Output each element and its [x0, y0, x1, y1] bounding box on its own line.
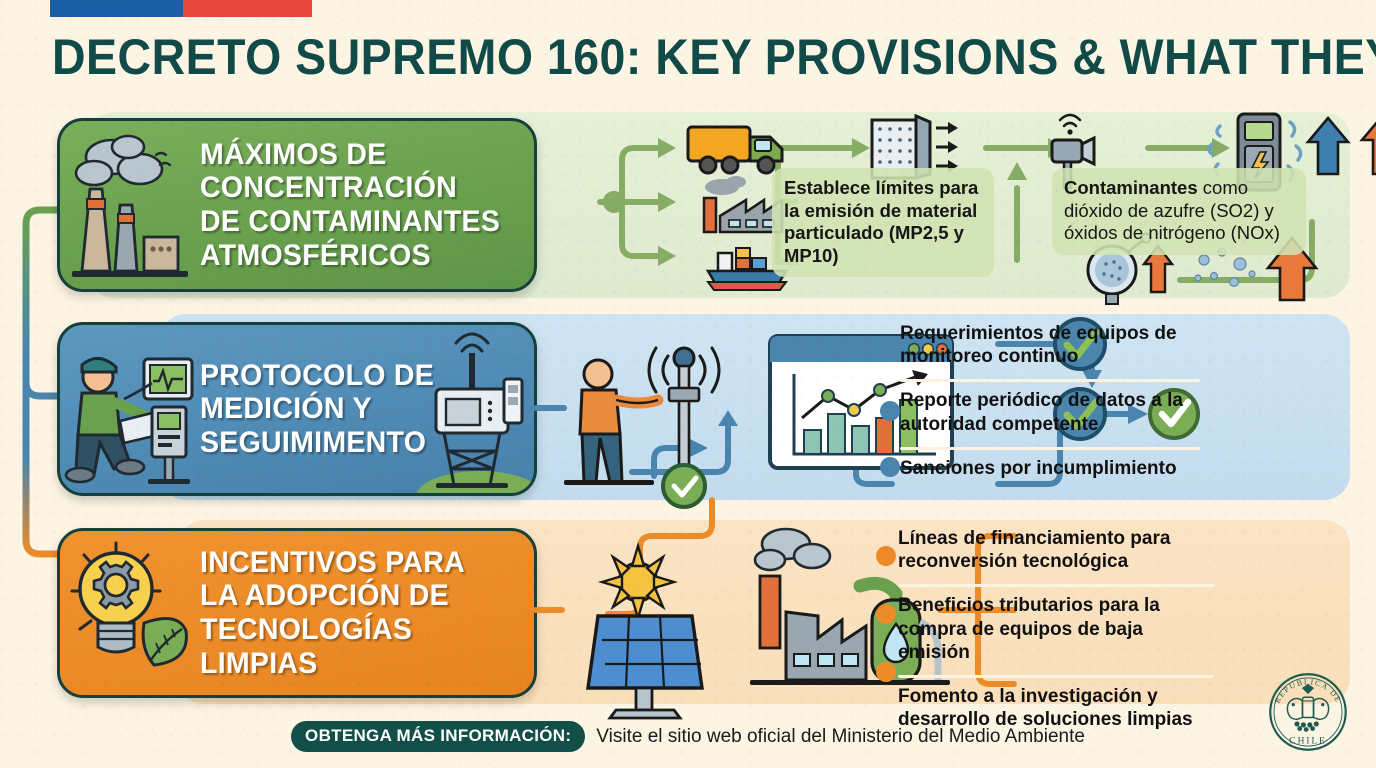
antenna-tower-icon: [410, 325, 530, 493]
bullet-dot-orange: [876, 662, 896, 682]
factory-icon: [704, 176, 782, 232]
callout-pollutants: Contaminantes como dióxido de azufre (SO…: [1052, 168, 1306, 255]
page-title: DECRETO SUPREMO 160: KEY PROVISIONS & WH…: [52, 32, 1252, 82]
lightbulb-gear-leaf-icon: [60, 531, 200, 695]
arrow-up-orange-icon: [1362, 114, 1376, 174]
card-emissions-title: MÁXIMOS DE CONCENTRACIÓN DE CONTAMINANTE…: [200, 138, 508, 272]
callout-particulate-limits: Establece límites para la emisión de mat…: [772, 168, 994, 277]
bullet-dot-orange: [876, 604, 896, 624]
bullet-item[interactable]: Sanciones por incumplimiento: [900, 457, 1200, 486]
card-incentives-title: INCENTIVOS PARA LA ADOPCIÓN DE TECNOLOGÍ…: [200, 546, 517, 680]
factory-smokestacks-icon: [60, 121, 200, 289]
flag-red-block: [183, 0, 312, 17]
flag-blue-block: [50, 0, 183, 17]
card-incentives[interactable]: INCENTIVOS PARA LA ADOPCIÓN DE TECNOLOGÍ…: [57, 528, 537, 698]
footer-text: Visite el sitio web oficial del Minister…: [596, 726, 1085, 748]
bullets-incentives: Líneas de financiamiento para reconversi…: [898, 527, 1214, 737]
bullet-dot-blue: [880, 401, 900, 421]
bullets-monitoring: Requerimientos de equipos de monitoreo c…: [900, 322, 1200, 486]
bullet-divider: [900, 447, 1200, 450]
field-technician-icon: [564, 348, 719, 507]
callout-particulate-limits-text: Establece límites para la emisión de mat…: [784, 177, 978, 266]
seal-bottom-text: CHILE: [1289, 735, 1327, 746]
card-monitoring[interactable]: PROTOCOLO DE MEDICIÓN Y SEGUIMIMENTO: [57, 322, 537, 496]
bullet-item[interactable]: Requerimientos de equipos de monitoreo c…: [900, 322, 1200, 374]
republica-de-chile-seal: REPUBLICA DE CHILE: [1262, 666, 1354, 758]
bullet-dot-blue: [880, 457, 900, 477]
technician-monitor-icon: [60, 325, 200, 493]
sun-icon: [602, 546, 674, 618]
bullet-item[interactable]: Reporte periódico de datos a la autorida…: [900, 389, 1200, 441]
bullet-dot-blue: [880, 336, 900, 356]
truck-icon: [688, 127, 782, 173]
arrow-up-blue-icon: [1308, 118, 1348, 174]
footer-bar: OBTENGA MÁS INFORMACIÓN: Visite el sitio…: [0, 721, 1376, 752]
bullet-dot-orange: [876, 546, 896, 566]
bullet-divider: [898, 675, 1214, 678]
card-emissions[interactable]: MÁXIMOS DE CONCENTRACIÓN DE CONTAMINANTE…: [57, 118, 537, 292]
solar-panel-icon: [588, 616, 702, 718]
callout-pollutants-bold: Contaminantes: [1064, 177, 1198, 198]
footer-pill-label: OBTENGA MÁS INFORMACIÓN:: [291, 721, 585, 752]
bullet-divider: [900, 379, 1200, 382]
card-monitoring-title: PROTOCOLO DE MEDICIÓN Y SEGUIMIMENTO: [200, 359, 442, 460]
bullet-item[interactable]: Beneficios tributarios para la compra de…: [898, 594, 1214, 670]
bullet-item[interactable]: Líneas de financiamiento para reconversi…: [898, 527, 1214, 579]
bullet-divider: [898, 584, 1214, 587]
chile-flag-bar: [50, 0, 312, 17]
